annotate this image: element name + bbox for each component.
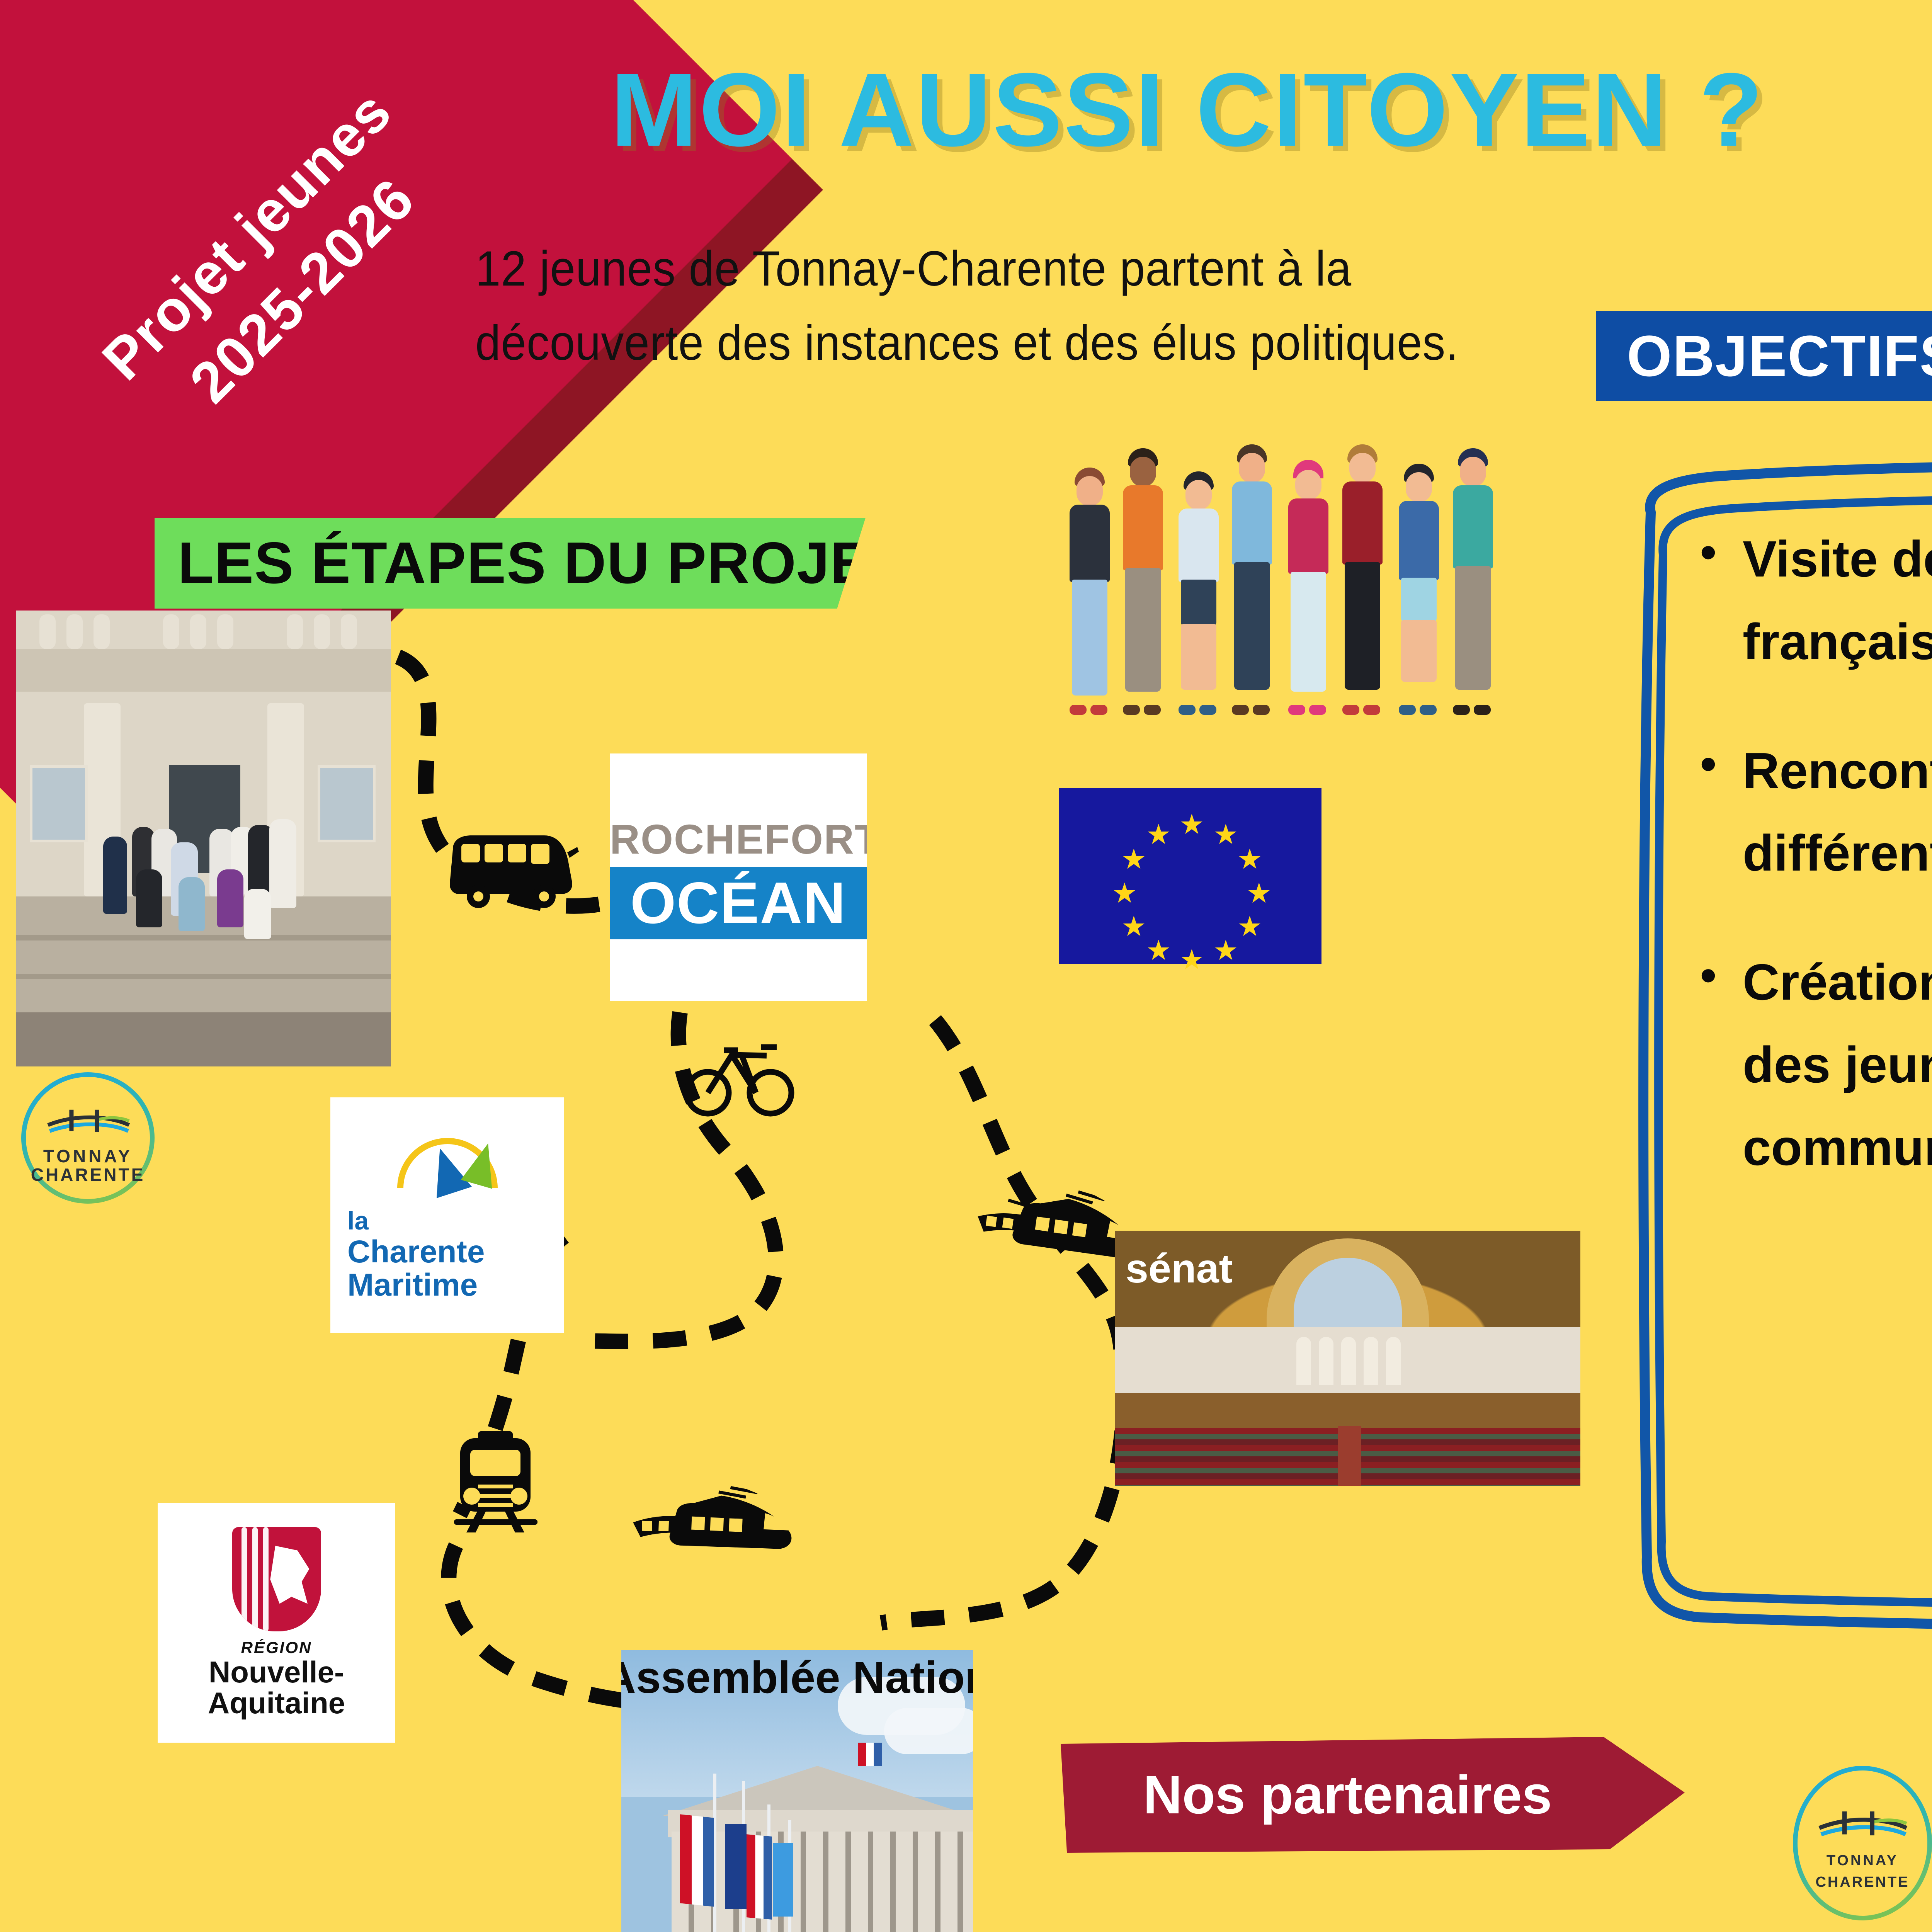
partners-section-banner: Nos partenaires <box>1061 1737 1685 1853</box>
youth-figure <box>1175 471 1222 715</box>
page-subtitle: 12 jeunes de Tonnay-Charente partent à l… <box>475 232 1542 380</box>
youth-figure <box>1339 444 1386 715</box>
charente-maritime-logo: la Charente Maritime <box>330 1097 564 1333</box>
objectives-list: Visite des insitutions politiques frança… <box>1696 518 1932 1235</box>
steps-section-banner: LES ÉTAPES DU PROJET <box>155 518 866 609</box>
tonnay-logo-line-1: TONNAY <box>21 1146 155 1167</box>
tonnay-logo-line-2: CHARENTE <box>1793 1874 1932 1891</box>
european-union-flag-icon: ★ ★ ★ ★ ★ ★ ★ ★ ★ ★ ★ ★ <box>1059 788 1321 964</box>
aquitaine-line-2: Nouvelle- <box>158 1657 395 1688</box>
tonnay-logo-line-1: TONNAY <box>1793 1852 1932 1869</box>
aquitaine-line-3: Aquitaine <box>158 1688 395 1719</box>
rochefort-line-1: ROCHEFORT <box>610 815 867 863</box>
objective-item: Visite des insitutions politiques frança… <box>1696 518 1932 683</box>
charente-line-1: la <box>330 1206 564 1235</box>
objective-item: Rencontre avec les élus des différentes … <box>1696 730 1932 895</box>
youth-figure <box>1120 448 1166 715</box>
photo-group-townhall <box>16 611 391 1066</box>
tonnay-charente-logo: TONNAY CHARENTE <box>21 1072 155 1204</box>
senat-caption: sénat <box>1126 1245 1233 1292</box>
youth-figure <box>1066 468 1113 715</box>
youth-figure <box>1396 464 1442 715</box>
youth-figure <box>1450 448 1496 715</box>
poster-canvas: Projet jeunes 2025-2026 MOI AUSSI CITOYE… <box>0 0 1932 1932</box>
lion-shield-icon <box>232 1527 321 1631</box>
page-title: MOI AUSSI CITOYEN ? <box>611 50 1932 170</box>
bridge-icon <box>44 1106 132 1140</box>
objective-item: Création d'un outils à destination des j… <box>1696 941 1932 1189</box>
youth-figure <box>1229 444 1275 715</box>
bicycle-icon <box>684 1032 796 1121</box>
bridge-icon <box>1816 1806 1908 1846</box>
bus-icon <box>444 827 580 912</box>
photo-assemblee-nationale: Assemblée Nationale <box>621 1650 973 1932</box>
nouvelle-aquitaine-logo: RÉGION Nouvelle- Aquitaine <box>158 1503 395 1743</box>
tonnay-logo-line-2: CHARENTE <box>21 1164 155 1185</box>
rochefort-ocean-logo: ROCHEFORT OCÉAN <box>610 753 867 1001</box>
objectives-section-banner: OBJECTIFS DU PROJET <box>1596 311 1932 401</box>
charente-line-3: Maritime <box>330 1269 564 1302</box>
rochefort-line-2: OCÉAN <box>610 867 867 939</box>
youth-figure <box>1285 460 1332 715</box>
seagull-icon <box>330 1129 564 1206</box>
youth-group-illustration <box>1066 437 1577 715</box>
objectives-box: Visite des insitutions politiques frança… <box>1623 444 1932 1638</box>
tgv-icon-2 <box>622 1453 807 1600</box>
aquitaine-line-1: RÉGION <box>158 1638 395 1657</box>
partner-tonnay-charente-logo: TONNAY CHARENTE <box>1793 1766 1932 1920</box>
assemblee-caption: Assemblée Nationale <box>621 1651 973 1703</box>
charente-line-2: Charente <box>330 1235 564 1269</box>
photo-senat: sénat <box>1115 1231 1580 1486</box>
train-front-icon <box>450 1430 541 1534</box>
